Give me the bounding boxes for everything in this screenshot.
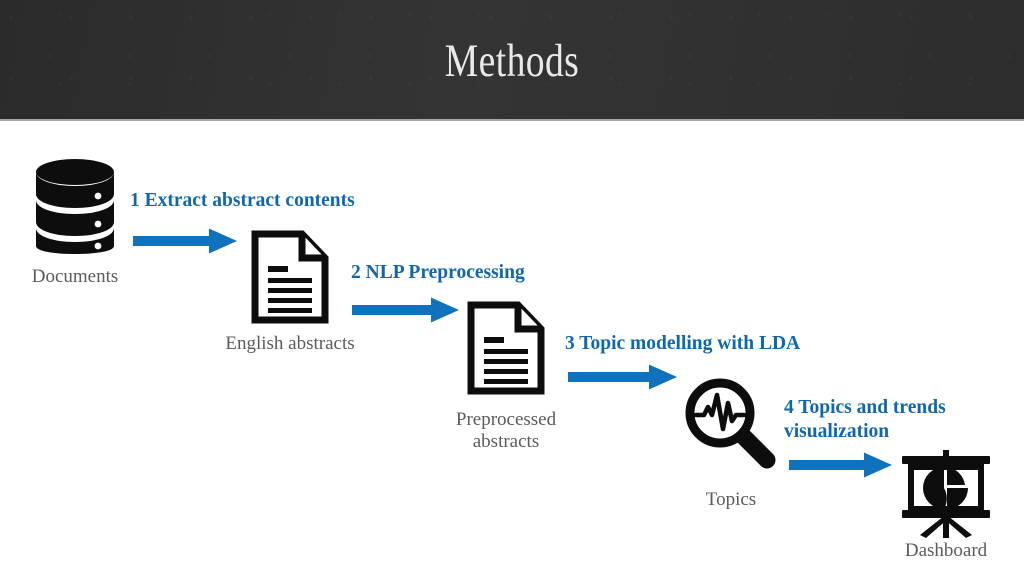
header-divider: [0, 119, 1024, 121]
step-label-3: 3 Topic modelling with LDA: [565, 332, 800, 356]
document-page-icon: [252, 231, 328, 323]
node-label-dashboard: Dashboard: [871, 540, 1021, 562]
database-icon: [36, 158, 114, 254]
arrow-step-2: [352, 297, 460, 323]
node-label-preprocessed-abstracts: Preprocessed abstracts: [431, 409, 581, 453]
magnifier-waveform-icon: [684, 377, 776, 469]
slide-canvas: Methods Documents: [0, 0, 1024, 579]
step-label-4: 4 Topics and trends visualization: [784, 396, 946, 444]
document-page-icon: [468, 302, 544, 394]
step-label-2: 2 NLP Preprocessing: [351, 261, 525, 285]
arrow-step-3: [568, 364, 678, 390]
node-label-topics: Topics: [656, 489, 806, 511]
step-label-1: 1 Extract abstract contents: [130, 189, 355, 213]
node-label-english-abstracts: English abstracts: [215, 333, 365, 355]
arrow-step-1: [133, 228, 238, 254]
page-title: Methods: [102, 33, 921, 89]
arrow-step-4: [789, 452, 893, 478]
presentation-chart-icon: [900, 450, 992, 538]
node-label-documents: Documents: [0, 266, 150, 288]
